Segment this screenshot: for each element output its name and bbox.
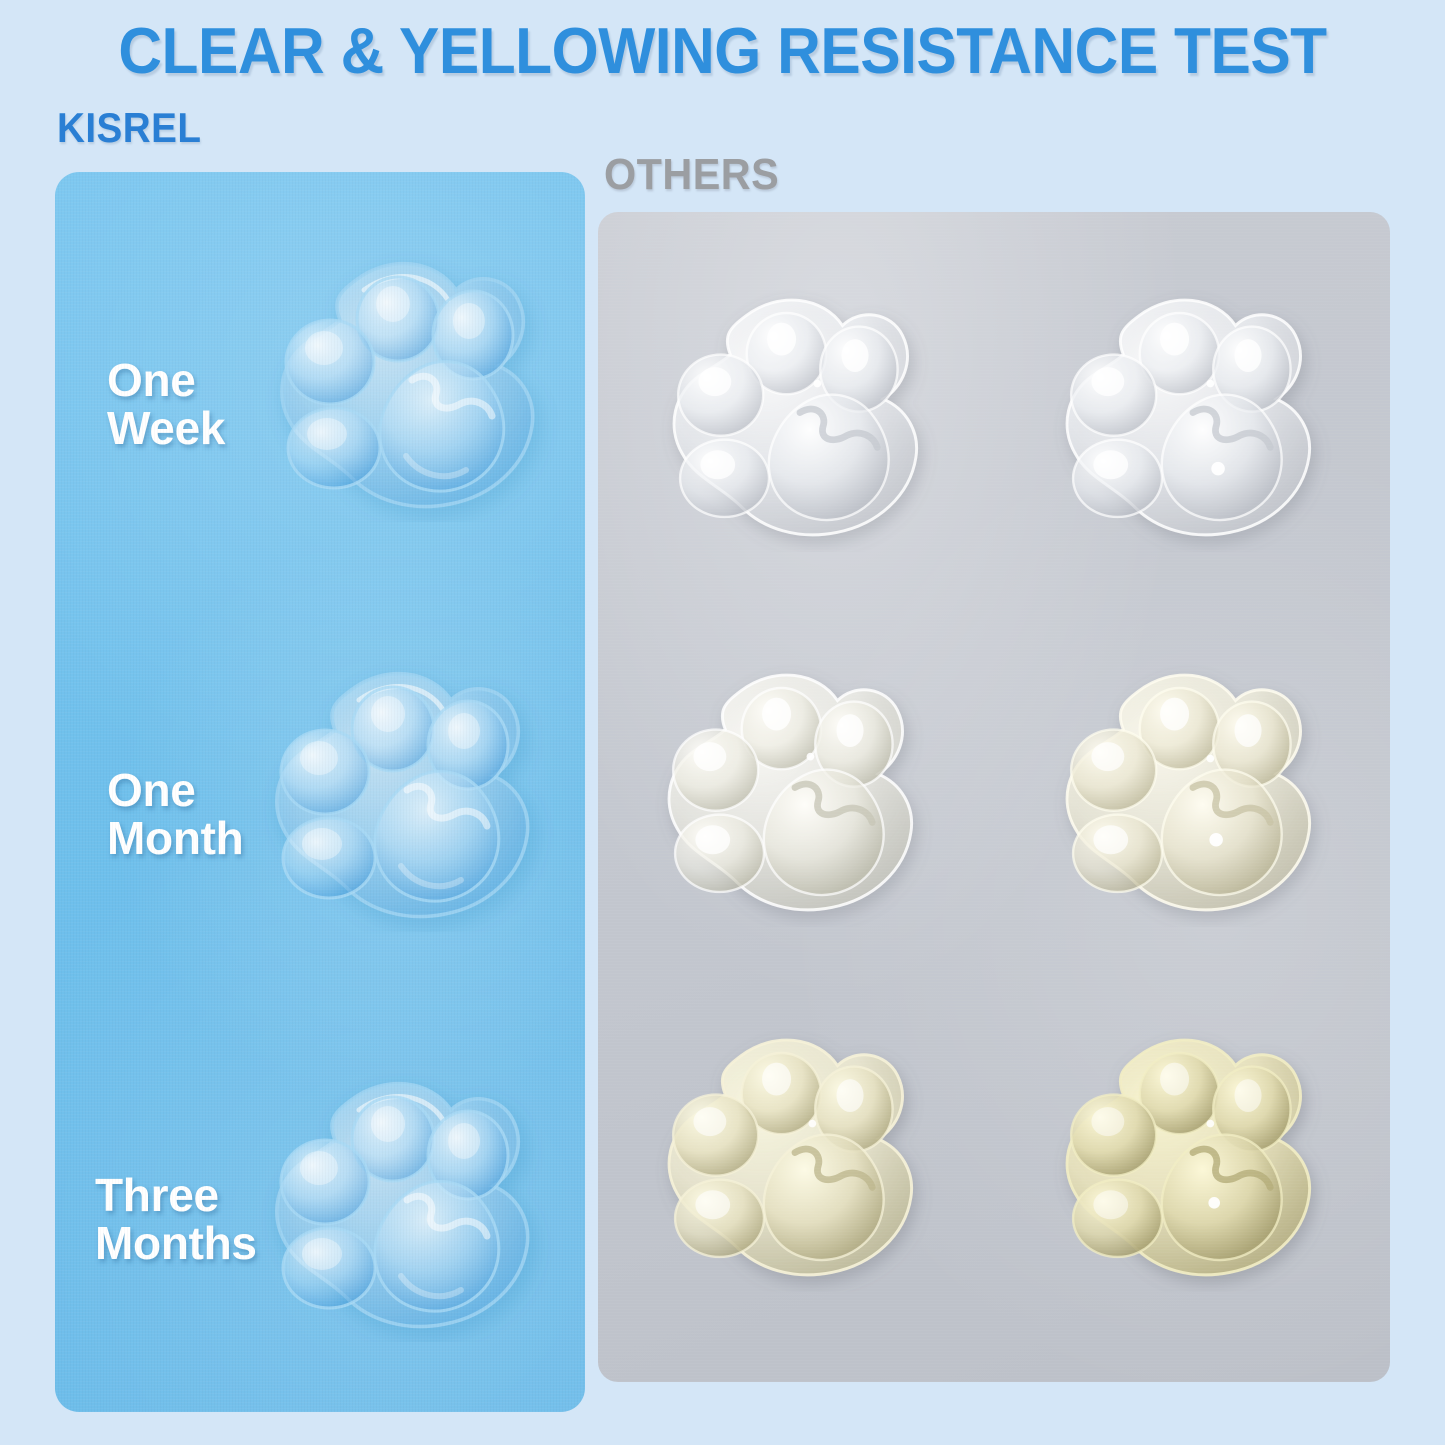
duration-label-three-months: Three Months xyxy=(95,1172,257,1268)
brand-label-kisrel: KISREL xyxy=(57,104,201,152)
others-row2-sample1-paw xyxy=(648,652,938,927)
duration-label-one-month: One Month xyxy=(107,767,243,863)
kisrel-one-week-paw xyxy=(260,242,560,522)
others-row1-sample2-paw xyxy=(1046,277,1336,552)
others-row1-sample1-paw xyxy=(653,277,943,552)
others-row3-sample1-paw xyxy=(648,1017,938,1292)
kisrel-one-month-paw xyxy=(255,652,555,932)
others-row2-sample2-paw xyxy=(1046,652,1336,927)
others-comparison-panel xyxy=(598,212,1390,1382)
page-title: CLEAR & YELLOWING RESISTANCE TEST xyxy=(51,18,1395,84)
brand-label-others: OTHERS xyxy=(604,150,779,200)
kisrel-three-months-paw xyxy=(255,1062,555,1342)
duration-label-one-week: One Week xyxy=(107,357,225,453)
others-row3-sample2-paw xyxy=(1046,1017,1336,1292)
kisrel-comparison-panel: One Week xyxy=(55,172,585,1412)
